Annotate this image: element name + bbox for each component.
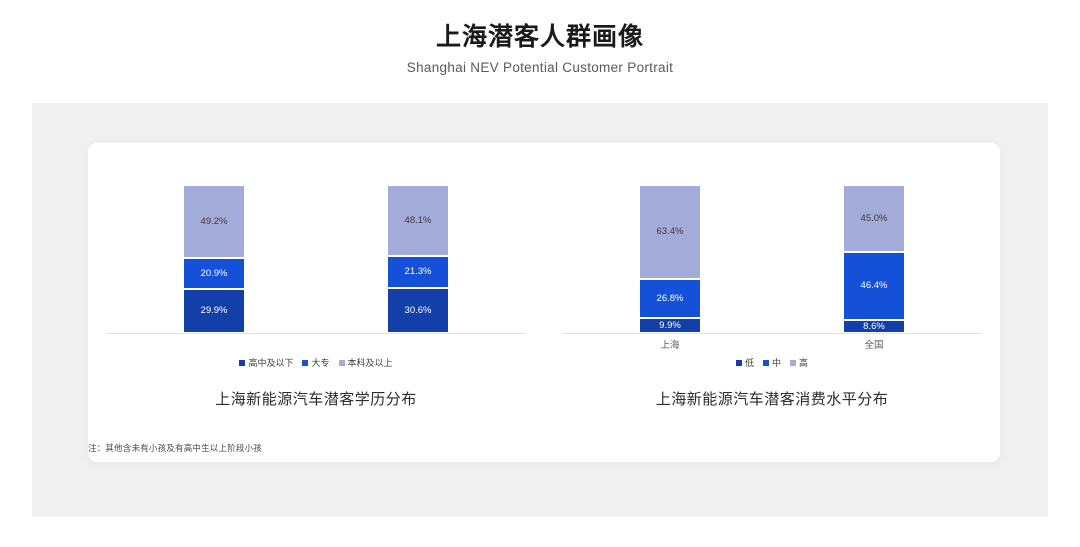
legend-item: 本科及以上 bbox=[339, 356, 393, 369]
legend-label: 本科及以上 bbox=[348, 356, 393, 369]
legend-item: 低 bbox=[736, 356, 754, 369]
stacked-bar: 45.0% 46.4% 8.6% bbox=[843, 185, 905, 333]
category-label: 上海 bbox=[639, 337, 701, 351]
axis-line-1 bbox=[106, 333, 526, 334]
bar-segment-middle: 21.3% bbox=[387, 256, 449, 288]
content-card: 49.2% 20.9% 29.9% 48.1% 21.3% 30.6% bbox=[88, 143, 1000, 462]
legend-swatch-icon bbox=[736, 360, 742, 366]
legend-label: 高 bbox=[799, 356, 808, 369]
chart-title-2: 上海新能源汽车潜客消费水平分布 bbox=[544, 388, 1000, 409]
legend-item: 中 bbox=[763, 356, 781, 369]
page-header: 上海潜客人群画像 Shanghai NEV Potential Customer… bbox=[0, 22, 1080, 76]
bar-segment-middle: 46.4% bbox=[843, 252, 905, 321]
plot-area-2: 63.4% 26.8% 9.9% 45.0% 46.4% 8.6% bbox=[562, 185, 982, 333]
legend-item: 大专 bbox=[302, 356, 329, 369]
bar-segment-bottom: 8.6% bbox=[843, 320, 905, 333]
legend-label: 中 bbox=[772, 356, 781, 369]
charts-row: 49.2% 20.9% 29.9% 48.1% 21.3% 30.6% bbox=[88, 143, 1000, 462]
legend-swatch-icon bbox=[239, 360, 245, 366]
legend-item: 高中及以下 bbox=[239, 356, 293, 369]
category-labels-2: 上海 全国 bbox=[562, 337, 982, 353]
bar-segment-middle: 26.8% bbox=[639, 279, 701, 319]
bar-segment-bottom: 9.9% bbox=[639, 318, 701, 333]
bar-segment-top: 63.4% bbox=[639, 185, 701, 279]
legend-label: 大专 bbox=[311, 356, 329, 369]
bar-segment-bottom: 29.9% bbox=[183, 289, 245, 333]
chart-title-1: 上海新能源汽车潜客学历分布 bbox=[88, 388, 544, 409]
bar-segment-top: 49.2% bbox=[183, 185, 245, 258]
bar-segment-top: 45.0% bbox=[843, 185, 905, 252]
legend-label: 高中及以下 bbox=[248, 356, 293, 369]
category-label: 全国 bbox=[843, 337, 905, 351]
plot-area-1: 49.2% 20.9% 29.9% 48.1% 21.3% 30.6% bbox=[106, 185, 526, 333]
stacked-bar: 49.2% 20.9% 29.9% bbox=[183, 185, 245, 333]
page-root: 上海潜客人群画像 Shanghai NEV Potential Customer… bbox=[0, 0, 1080, 547]
stacked-bar: 48.1% 21.3% 30.6% bbox=[387, 185, 449, 333]
chart-consumption-level-distribution: 63.4% 26.8% 9.9% 45.0% 46.4% 8.6% 上海 全国 bbox=[544, 143, 1000, 462]
bar-segment-top: 48.1% bbox=[387, 185, 449, 256]
page-subtitle: Shanghai NEV Potential Customer Portrait bbox=[0, 59, 1080, 76]
bar-segment-middle: 20.9% bbox=[183, 258, 245, 289]
legend-swatch-icon bbox=[339, 360, 345, 366]
stacked-bar: 63.4% 26.8% 9.9% bbox=[639, 185, 701, 333]
category-labels-1 bbox=[106, 337, 526, 353]
legend-label: 低 bbox=[745, 356, 754, 369]
legend-1: 高中及以下 大专 本科及以上 bbox=[88, 356, 544, 369]
bar-segment-bottom: 30.6% bbox=[387, 288, 449, 333]
legend-swatch-icon bbox=[302, 360, 308, 366]
page-title: 上海潜客人群画像 bbox=[0, 22, 1080, 52]
legend-2: 低 中 高 bbox=[544, 356, 1000, 369]
footnote: 注：其他含未有小孩及有高中生以上阶段小孩 bbox=[88, 442, 262, 454]
legend-swatch-icon bbox=[790, 360, 796, 366]
legend-swatch-icon bbox=[763, 360, 769, 366]
chart-education-distribution: 49.2% 20.9% 29.9% 48.1% 21.3% 30.6% bbox=[88, 143, 544, 462]
legend-item: 高 bbox=[790, 356, 808, 369]
axis-line-2 bbox=[562, 333, 982, 334]
